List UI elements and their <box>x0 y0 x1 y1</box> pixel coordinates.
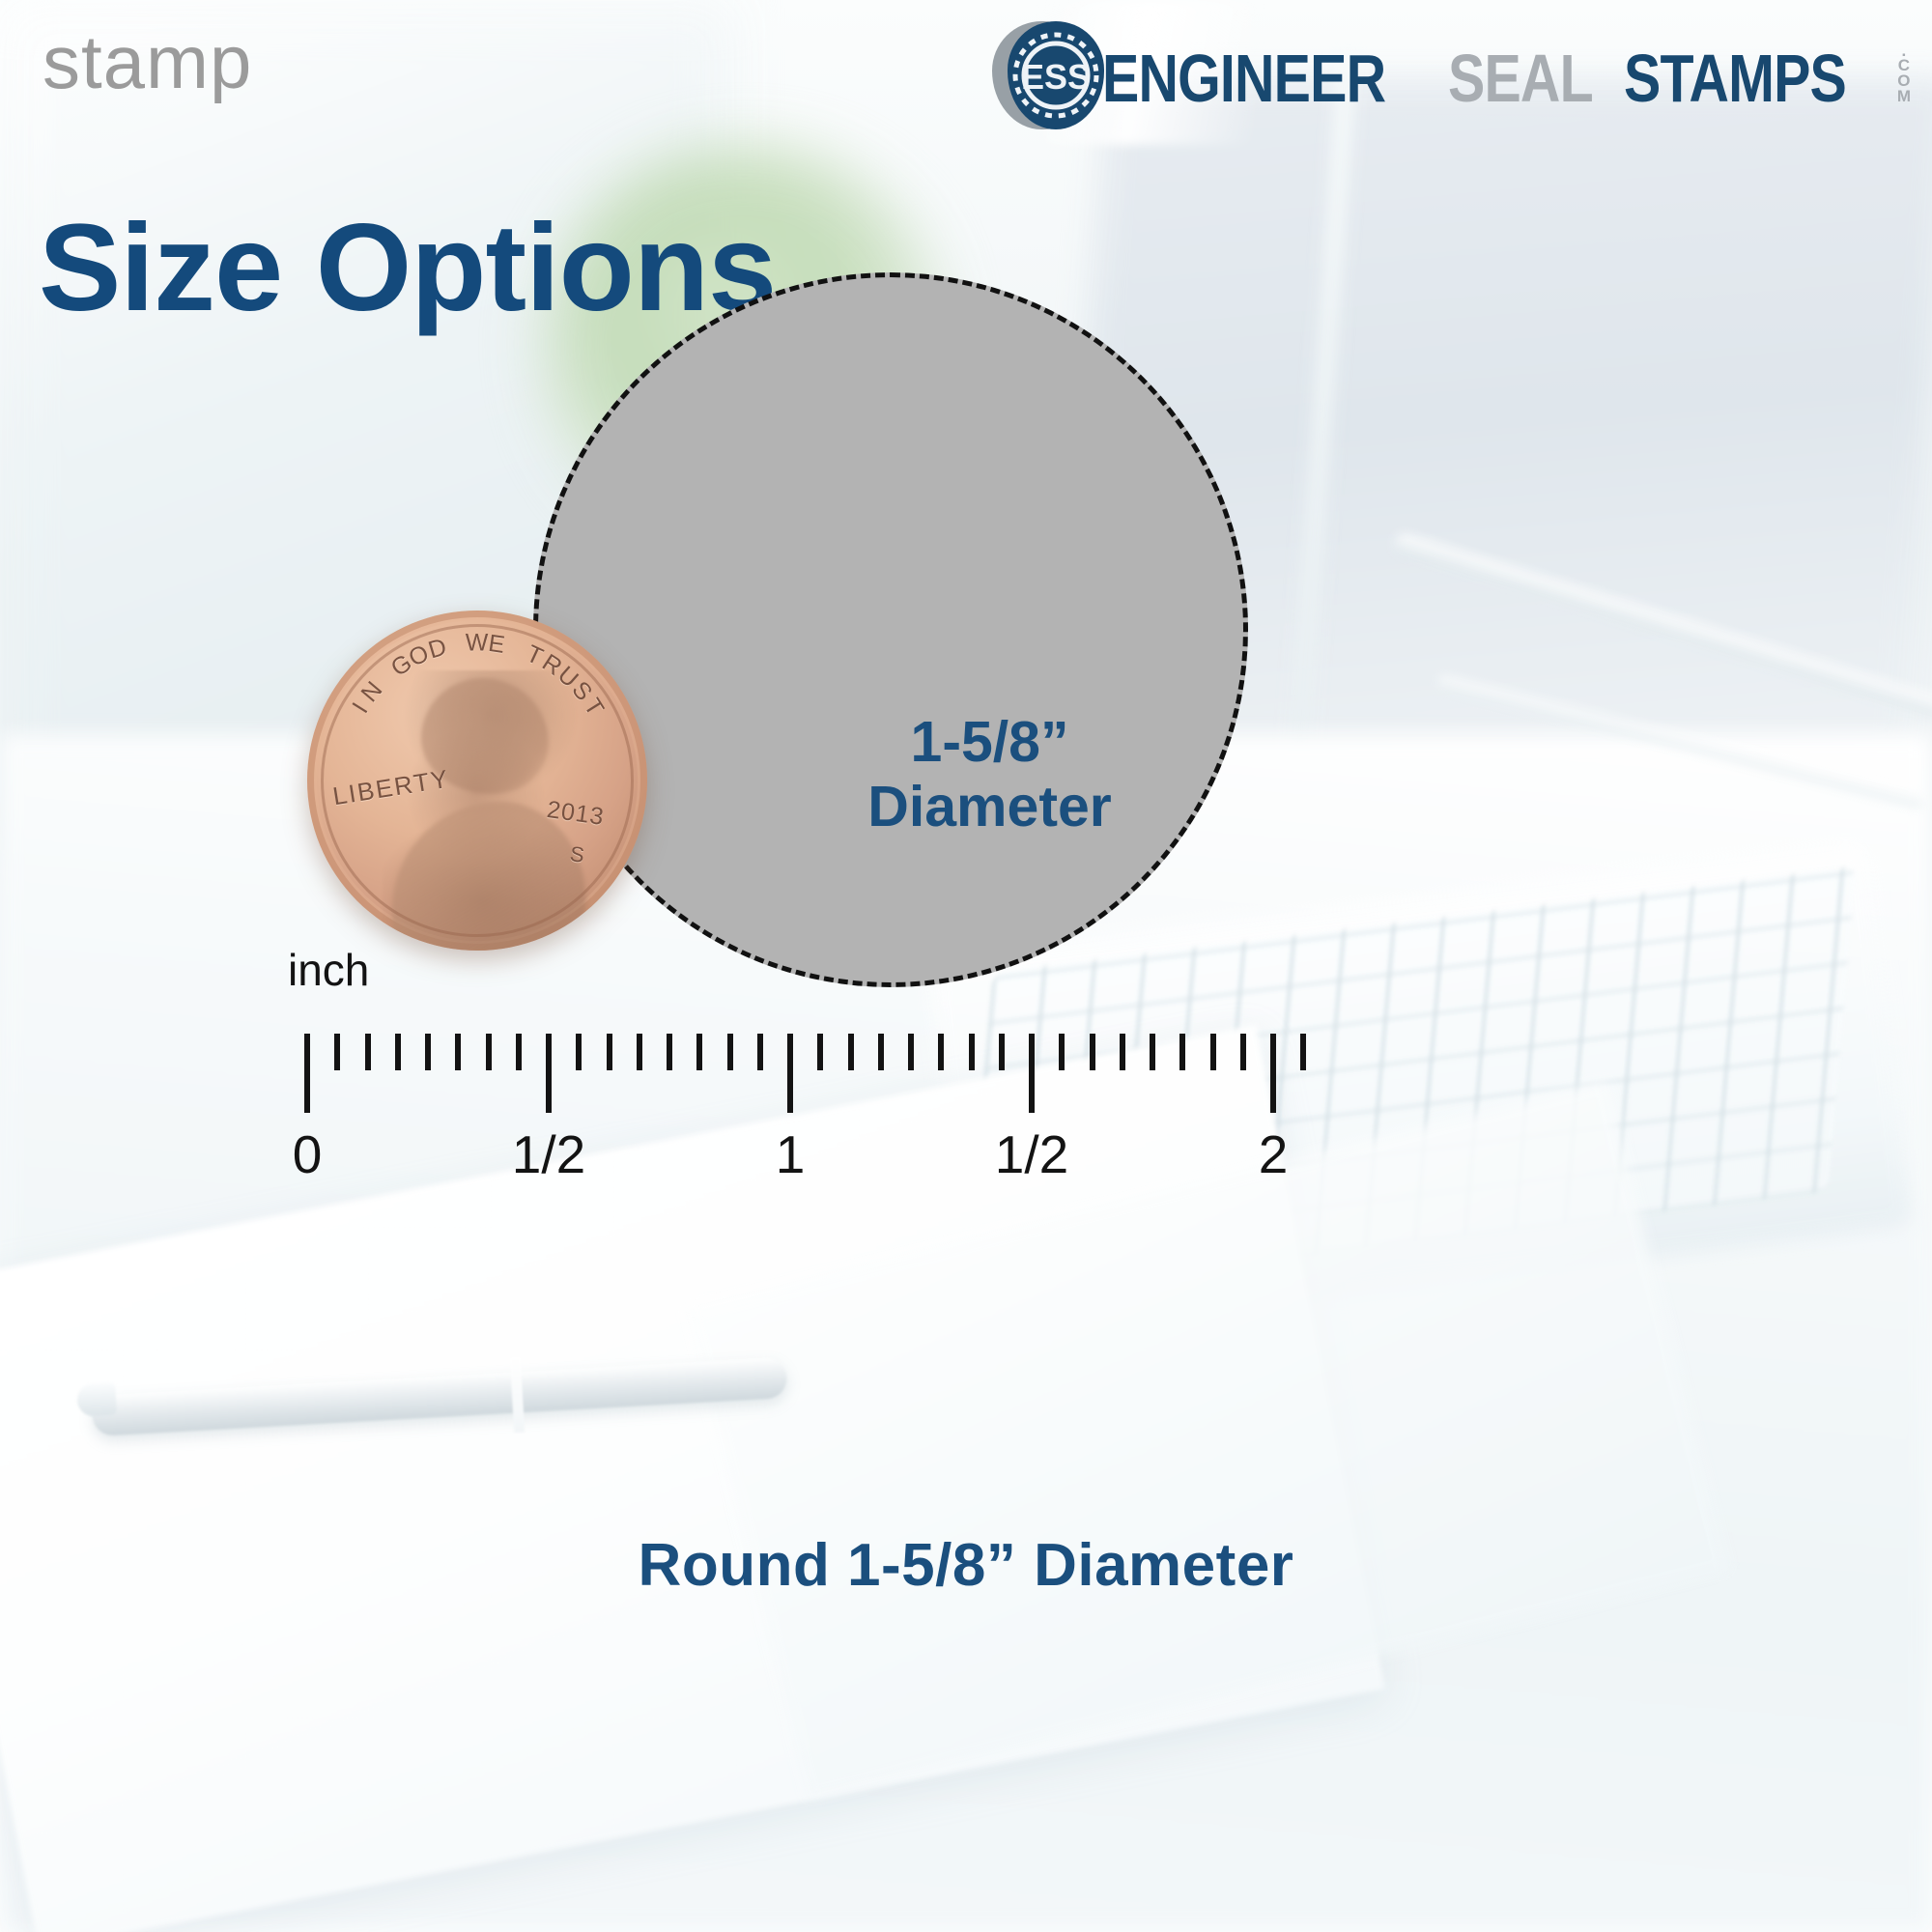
ruler-label: 0 <box>293 1123 323 1185</box>
penny-motto-char: U <box>552 661 583 694</box>
stamp-size-line-2: Diameter <box>867 775 1112 839</box>
ruler-tick-minor <box>1120 1034 1125 1070</box>
penny-motto-char <box>374 665 398 691</box>
ruler-label: 1/2 <box>512 1123 585 1185</box>
ess-badge-icon: ESS <box>986 15 1106 135</box>
ruler-tick-major <box>1029 1034 1035 1113</box>
ruler-tick-minor <box>969 1034 975 1070</box>
ruler-tick-minor <box>365 1034 371 1070</box>
ruler-tick-minor <box>817 1034 823 1070</box>
ruler-tick-minor <box>607 1034 612 1070</box>
penny-reference-coin: IN GOD WE TRUST LIBERTY 2013 S <box>307 611 647 951</box>
ruler-tick-minor <box>455 1034 461 1070</box>
ruler-tick-minor <box>1210 1034 1216 1070</box>
logo-tld: . C O M <box>1897 43 1911 104</box>
ruler-tick-major <box>1270 1034 1276 1113</box>
gear-icon: ESS <box>1008 21 1104 129</box>
logo-word-stamps: STAMPS <box>1624 50 1846 108</box>
ruler-tick-minor <box>334 1034 340 1070</box>
ruler-tick-major <box>304 1034 310 1113</box>
ruler-tick-major <box>787 1034 793 1113</box>
ruler-label: 2 <box>1259 1123 1289 1185</box>
penny-mint-mark: S <box>568 841 585 868</box>
background-pen-tip <box>76 1382 117 1417</box>
penny-motto-char: G <box>386 648 418 682</box>
penny-portrait <box>383 670 590 951</box>
ruler-tick-minor <box>516 1034 522 1070</box>
ess-badge-text: ESS <box>1021 57 1091 97</box>
penny-motto-char <box>509 635 525 664</box>
penny-motto-char: T <box>522 640 548 672</box>
ruler-tick-minor <box>696 1034 702 1070</box>
ruler-tick-minor <box>1179 1034 1185 1070</box>
page-kicker: stamp <box>43 24 252 99</box>
penny-motto-char: N <box>355 676 388 708</box>
size-options-page: stamp Size Options ESS ENGINEER SEAL STA… <box>0 0 1932 1932</box>
ruler-tick-minor <box>667 1034 672 1070</box>
penny-motto-char: R <box>537 649 568 683</box>
penny-motto: IN GOD WE TRUST <box>307 611 647 951</box>
ruler-label: 1/2 <box>995 1123 1068 1185</box>
ruler-tick-minor <box>637 1034 642 1070</box>
penny-motto-char: D <box>425 633 451 665</box>
ruler-label: 1 <box>776 1123 806 1185</box>
ruler-tick-minor <box>848 1034 854 1070</box>
penny-motto-char: T <box>578 694 610 722</box>
penny-portrait-head <box>421 678 549 794</box>
page-title: Size Options <box>39 207 776 330</box>
ruler-tick-minor <box>576 1034 582 1070</box>
ruler-tick-minor <box>425 1034 431 1070</box>
penny-motto-char: W <box>466 630 490 658</box>
ruler-tick-minor <box>1150 1034 1155 1070</box>
ruler-tick-minor <box>878 1034 884 1070</box>
penny-motto-char: E <box>487 630 508 660</box>
penny-motto-char: O <box>405 639 435 673</box>
brand-logo[interactable]: ESS ENGINEER SEAL STAMPS . C O M <box>986 17 1911 133</box>
stamp-size-line-1: 1-5/8” <box>867 710 1112 775</box>
ruler-tick-major <box>546 1034 552 1113</box>
ruler-tick-minor <box>486 1034 492 1070</box>
ruler-tick-minor <box>938 1034 944 1070</box>
penny-year-text: 2013 <box>545 796 606 832</box>
ruler-tick-minor <box>1240 1034 1246 1070</box>
size-caption: Round 1-5/8” Diameter <box>0 1531 1932 1600</box>
stamp-size-label: 1-5/8” Diameter <box>867 710 1112 840</box>
ruler-tick-minor <box>1300 1034 1306 1070</box>
ruler-unit-label: inch <box>288 944 369 996</box>
ruler-tick-minor <box>1059 1034 1065 1070</box>
penny-motto-char <box>452 631 464 660</box>
penny-motto-char: S <box>566 676 599 707</box>
logo-wordmark: ENGINEER SEAL STAMPS . C O M <box>1102 43 1911 108</box>
logo-word-seal: SEAL <box>1448 50 1593 108</box>
ruler-tick-minor <box>999 1034 1005 1070</box>
ruler-tick-minor <box>1090 1034 1095 1070</box>
ruler-tick-minor <box>757 1034 763 1070</box>
logo-tld-m: M <box>1897 89 1911 104</box>
ruler-tick-minor <box>395 1034 401 1070</box>
inch-ruler: inch 01/211/22 <box>290 1000 1275 1222</box>
penny-liberty-text: LIBERTY <box>330 764 451 812</box>
logo-word-engineer: ENGINEER <box>1102 50 1385 108</box>
ruler-tick-minor <box>908 1034 914 1070</box>
ruler-tick-minor <box>727 1034 733 1070</box>
penny-motto-char: I <box>347 697 375 719</box>
